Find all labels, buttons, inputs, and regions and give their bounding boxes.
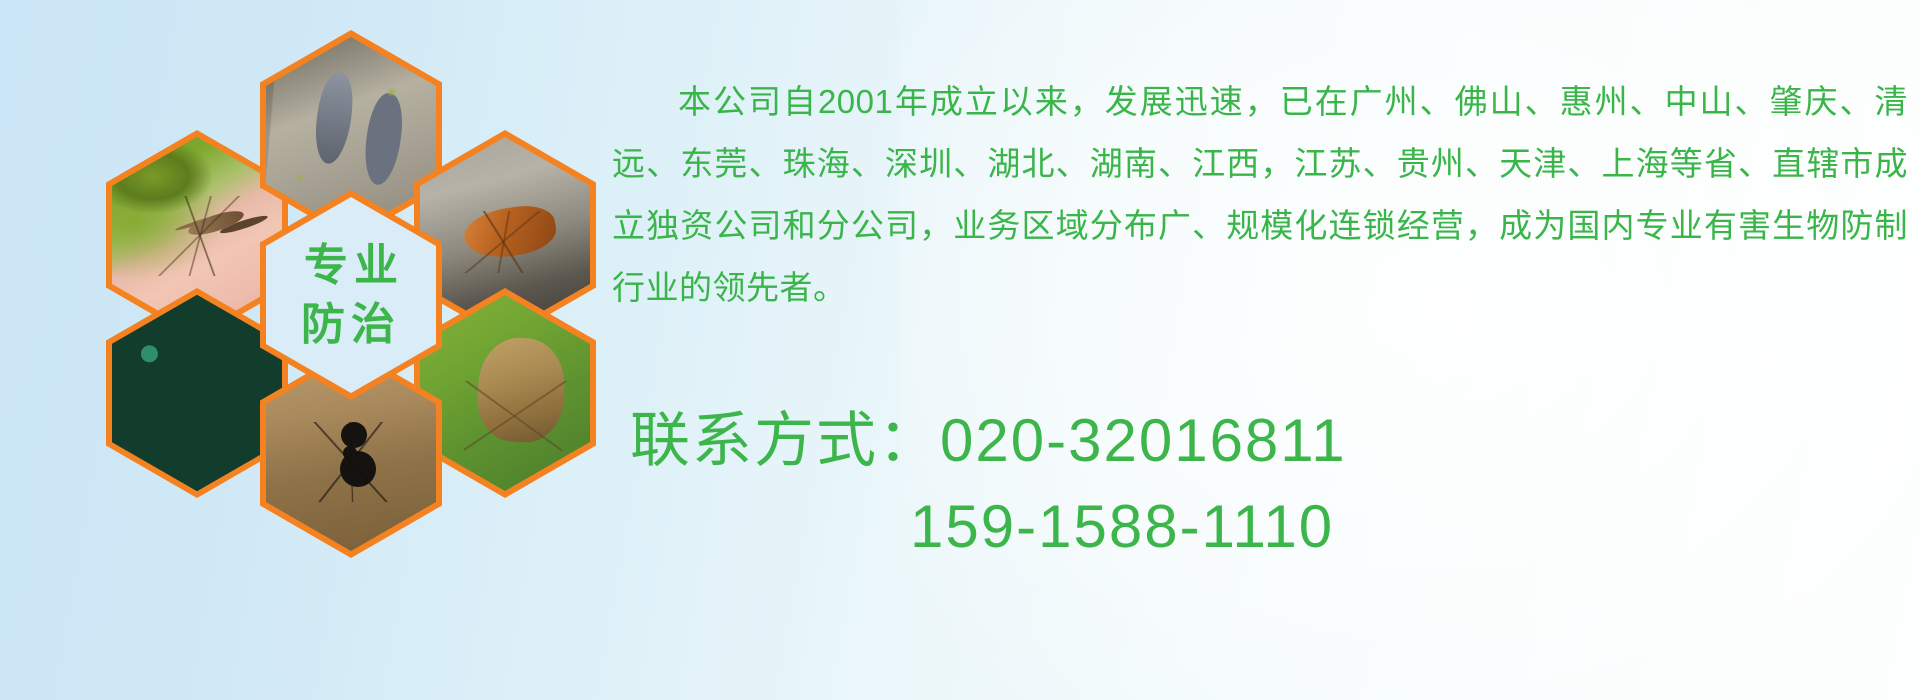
honeycomb-gallery: 专业 防治 bbox=[86, 8, 586, 568]
hex-inner bbox=[420, 295, 590, 491]
contact-block: 联系方式：020-32016811 159-1588-1110 bbox=[612, 398, 1908, 570]
stinkbug-photo bbox=[420, 295, 590, 491]
hex-inner bbox=[112, 295, 282, 491]
hex-inner: 专业 防治 bbox=[266, 197, 436, 393]
flies-photo bbox=[112, 295, 282, 491]
contact-secondary-line[interactable]: 159-1588-1110 bbox=[612, 484, 1908, 570]
promo-banner: 专业 防治 本公司自2001年成立以来，发展迅速，已在广州、佛山、惠州、中山、肇… bbox=[0, 0, 1920, 700]
center-slogan: 专业 防治 bbox=[298, 236, 404, 355]
contact-primary-line[interactable]: 联系方式：020-32016811 bbox=[612, 398, 1908, 484]
content-column: 本公司自2001年成立以来，发展迅速，已在广州、佛山、惠州、中山、肇庆、清远、东… bbox=[612, 0, 1920, 700]
company-intro-paragraph: 本公司自2001年成立以来，发展迅速，已在广州、佛山、惠州、中山、肇庆、清远、东… bbox=[612, 71, 1908, 319]
